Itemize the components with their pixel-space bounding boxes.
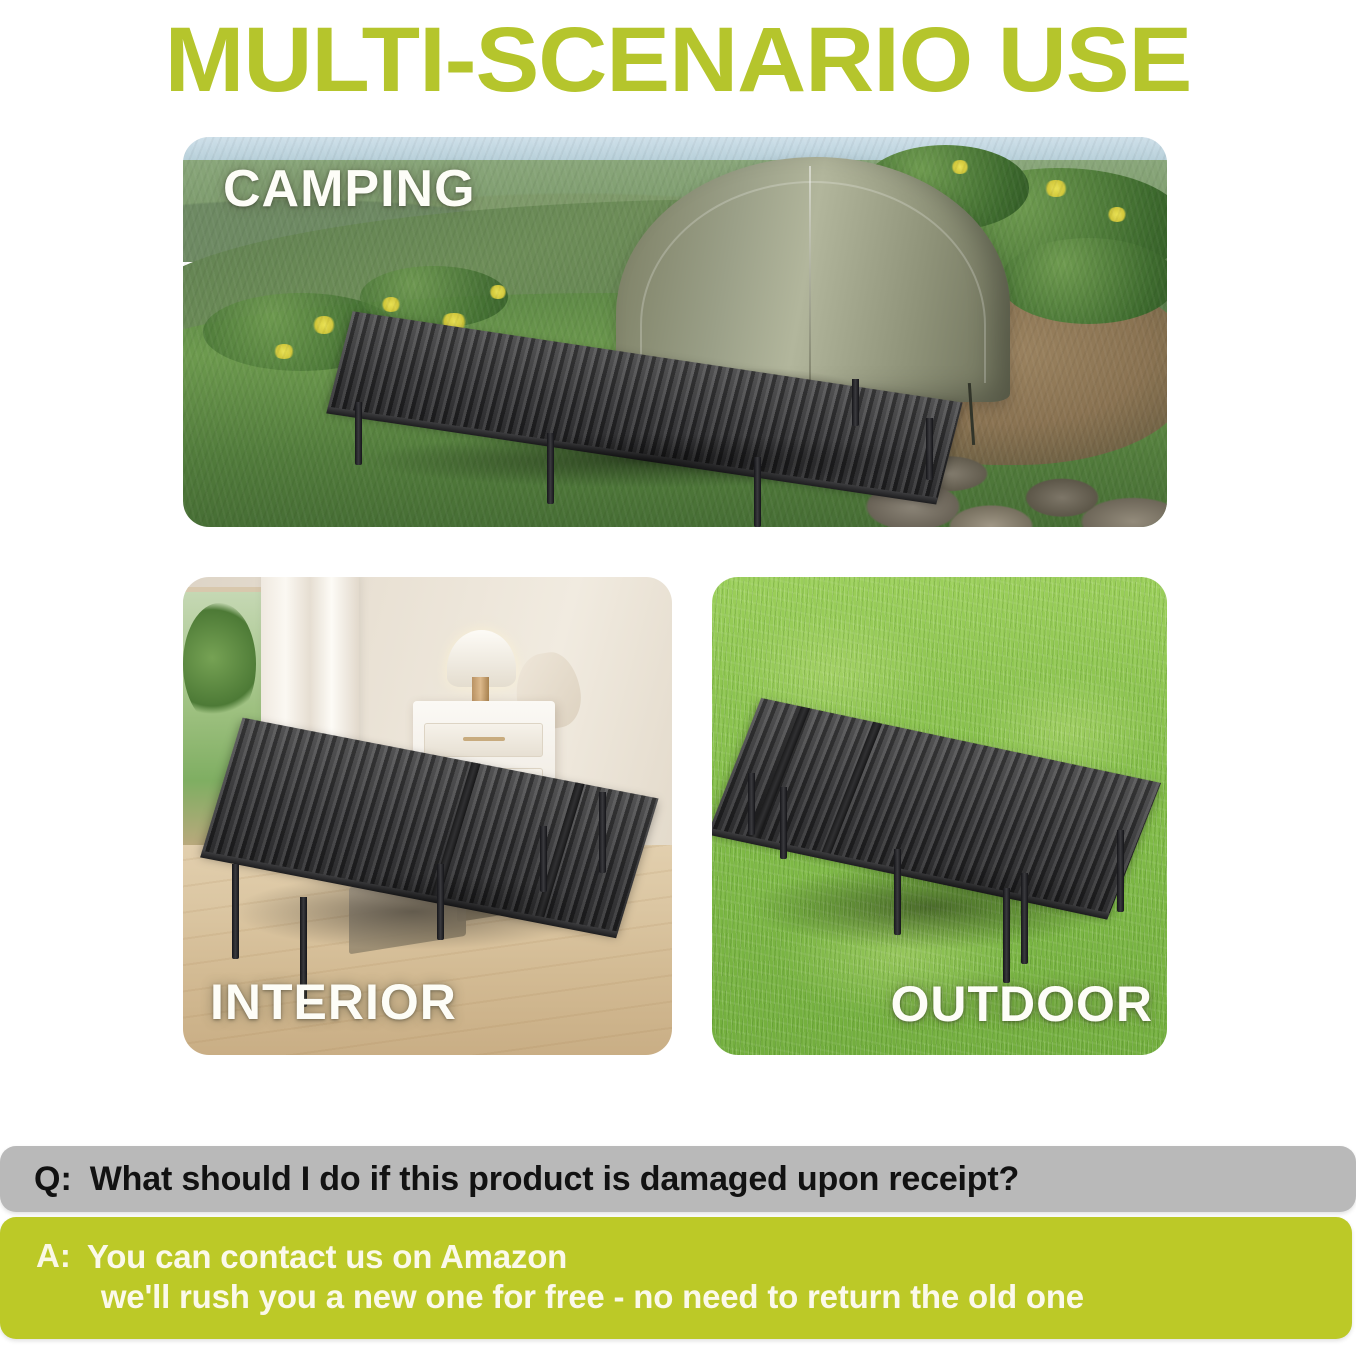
infographic-page: MULTI-SCENARIO USE [0, 0, 1356, 1356]
panel-label-outdoor: OUTDOOR [890, 975, 1153, 1033]
tent-center-seam [809, 166, 811, 392]
question-text: What should I do if this product is dama… [90, 1160, 1019, 1199]
page-title: MULTI-SCENARIO USE [0, 8, 1356, 112]
drawer-handle [463, 737, 505, 741]
panel-label-interior: INTERIOR [210, 973, 457, 1031]
panel-camping: CAMPING [183, 137, 1167, 527]
bed-leg [437, 864, 444, 940]
bed-leg [1003, 888, 1010, 984]
cot-leg [926, 418, 933, 480]
bed-leg [232, 864, 239, 960]
nightstand-drawer [424, 723, 543, 758]
answer-line-1: You can contact us on Amazon [87, 1237, 1084, 1277]
cot-leg [852, 379, 859, 426]
cot-leg [547, 433, 554, 503]
bed-leg [1117, 830, 1124, 911]
bed-leg [599, 792, 606, 873]
cot-leg [754, 457, 761, 527]
panel-outdoor: OUTDOOR [712, 577, 1167, 1055]
bed-leg [1021, 873, 1028, 964]
question-key: Q: [0, 1160, 90, 1199]
bed-leg [894, 849, 901, 935]
faq-question-bar: Q: What should I do if this product is d… [0, 1146, 1356, 1212]
faq-section: Q: What should I do if this product is d… [0, 1146, 1356, 1339]
bed-lawn-shadow [748, 864, 1112, 950]
cot-ground-shadow [360, 433, 931, 488]
panel-label-camping: CAMPING [223, 159, 476, 219]
faq-answer-bar: A: You can contact us on Amazon we'll ru… [0, 1217, 1352, 1339]
panel-interior: INTERIOR [183, 577, 672, 1055]
answer-line-2: we'll rush you a new one for free - no n… [87, 1277, 1084, 1317]
bed-leg [540, 826, 547, 893]
window-tree [183, 603, 256, 725]
cot-leg [355, 402, 362, 464]
bed-leg [780, 787, 787, 859]
answer-lines: You can contact us on Amazon we'll rush … [87, 1237, 1084, 1317]
tent-arc-seam [640, 181, 986, 382]
answer-key: A: [0, 1237, 87, 1275]
bed-leg [748, 773, 755, 835]
